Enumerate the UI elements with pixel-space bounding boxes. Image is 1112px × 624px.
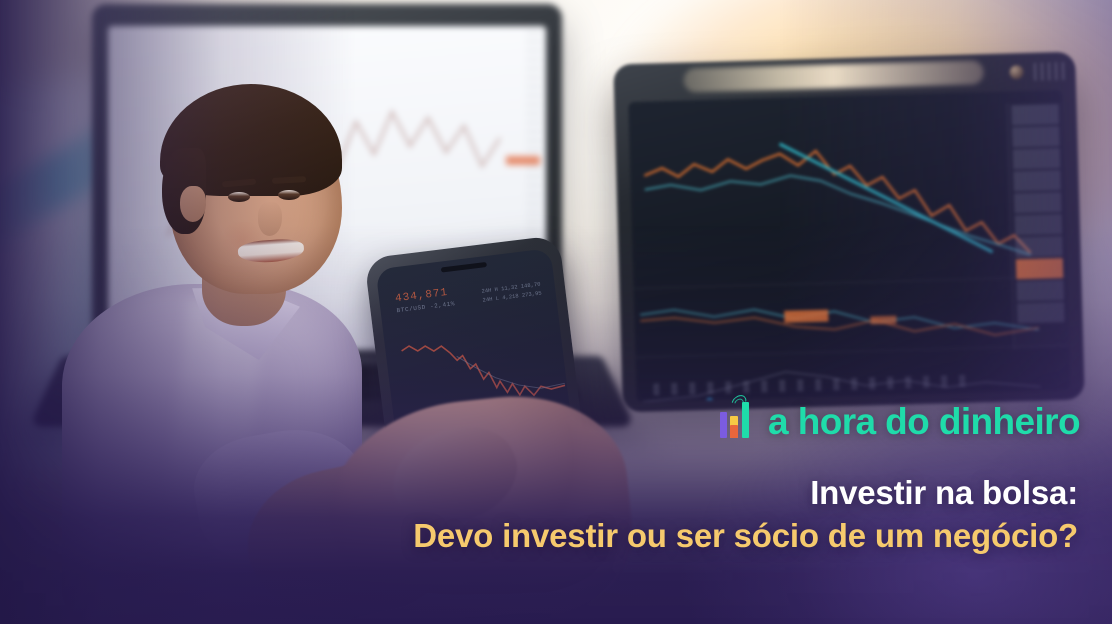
headline-block: Investir na bolsa: Devo investir ou ser … [413, 474, 1078, 556]
brand-lockup: a hora do dinheiro [720, 398, 1080, 444]
logo-bar-orange [730, 425, 738, 438]
promo-banner: 434,871 BTC/USD -2,41% 24H H 11,32 148,7… [0, 0, 1112, 624]
brand-wordmark: a hora do dinheiro [768, 403, 1080, 440]
bar-chart-signal-icon [720, 398, 758, 444]
logo-bar-purple [720, 412, 727, 438]
logo-bar-teal [742, 402, 749, 438]
headline-line-2: Devo investir ou ser sócio de um negócio… [413, 517, 1078, 556]
headline-line-1: Investir na bolsa: [413, 474, 1078, 513]
